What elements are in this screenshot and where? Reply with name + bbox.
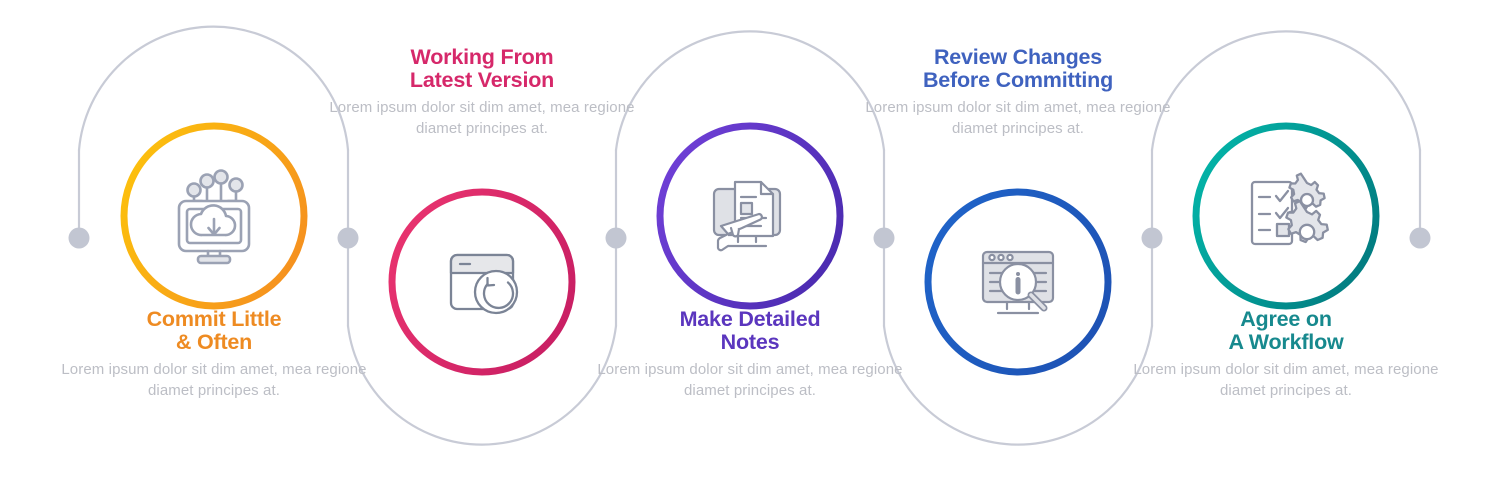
step-5-ring-wrap[interactable]: [1188, 118, 1384, 314]
connector-dot-5: [1142, 228, 1163, 249]
step-5-title: Agree onA Workflow: [1126, 308, 1446, 353]
connector-dot-3: [606, 228, 627, 249]
step-2-title: Working FromLatest Version: [322, 46, 642, 91]
step-4-title: Review ChangesBefore Committing: [858, 46, 1178, 91]
step-1-description: Lorem ipsum dolor sit dim amet, mea regi…: [54, 360, 374, 401]
step-4-ring-wrap[interactable]: [920, 184, 1116, 380]
step-2-description: Lorem ipsum dolor sit dim amet, mea regi…: [322, 98, 642, 139]
browser-refresh-icon: [430, 230, 534, 334]
step-5-text: Agree onA Workflow Lorem ipsum dolor sit…: [1126, 308, 1446, 401]
hand-writing-notes-icon: [698, 164, 802, 268]
step-2-icon: [384, 184, 580, 380]
step-3-icon: [652, 118, 848, 314]
browser-magnifier-info-icon: [966, 230, 1070, 334]
connector-dot-2: [338, 228, 359, 249]
step-4-text: Review ChangesBefore Committing Lorem ip…: [858, 46, 1178, 139]
step-5-icon: [1188, 118, 1384, 314]
step-4-icon: [920, 184, 1116, 380]
step-3-title: Make DetailedNotes: [590, 308, 910, 353]
step-3-description: Lorem ipsum dolor sit dim amet, mea regi…: [590, 360, 910, 401]
step-3-text: Make DetailedNotes Lorem ipsum dolor sit…: [590, 308, 910, 401]
step-1-icon: [116, 118, 312, 314]
step-3-ring-wrap[interactable]: [652, 118, 848, 314]
step-4-description: Lorem ipsum dolor sit dim amet, mea regi…: [858, 98, 1178, 139]
connector-dot-6: [1410, 228, 1431, 249]
checklist-gears-icon: [1234, 164, 1338, 268]
connector-dot-4: [874, 228, 895, 249]
step-2-text: Working FromLatest Version Lorem ipsum d…: [322, 46, 642, 139]
cloud-download-monitor-icon: [162, 164, 266, 268]
step-1-title: Commit Little& Often: [54, 308, 374, 353]
connector-dot-1: [69, 228, 90, 249]
infographic-root: Commit Little& Often Lorem ipsum dolor s…: [0, 0, 1500, 478]
step-5-description: Lorem ipsum dolor sit dim amet, mea regi…: [1126, 360, 1446, 401]
step-2-ring-wrap[interactable]: [384, 184, 580, 380]
step-1-text: Commit Little& Often Lorem ipsum dolor s…: [54, 308, 374, 401]
step-1-ring-wrap[interactable]: [116, 118, 312, 314]
